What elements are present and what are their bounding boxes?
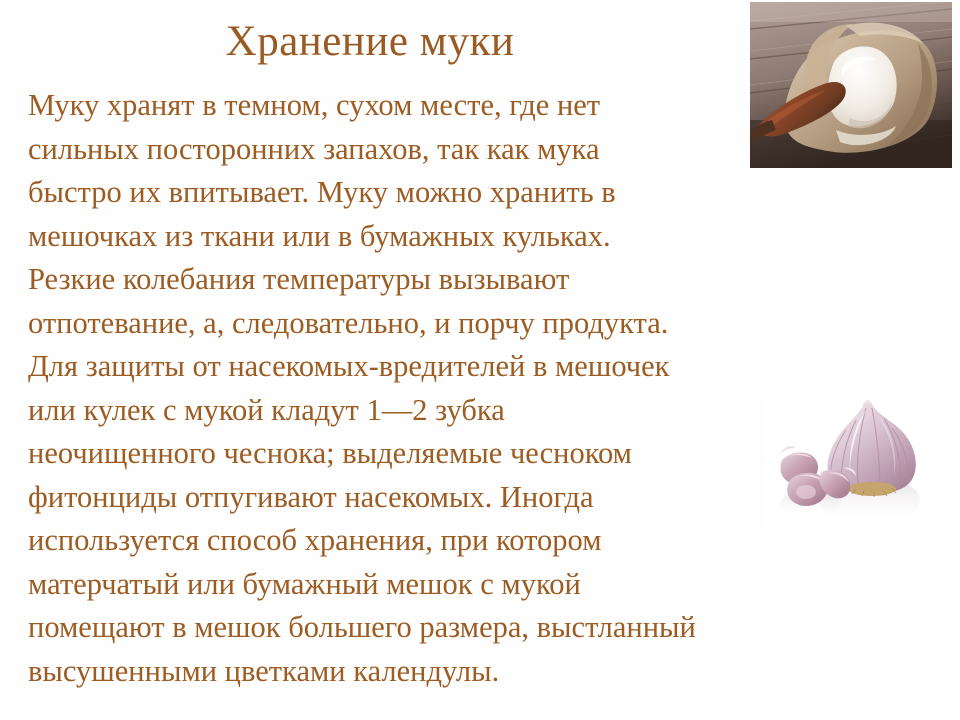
page-title: Хранение муки — [0, 16, 740, 68]
body-text-block: Муку хранят в темном, сухом месте, где н… — [28, 84, 858, 693]
text-line: Муку хранят в темном, сухом месте, где н… — [28, 84, 858, 128]
bulb-root-base — [848, 482, 896, 496]
text-line: используется способ хранения, при которо… — [28, 519, 858, 563]
slide-root: Хранение муки Муку хранят в темном, сухо… — [0, 0, 960, 720]
text-line: сильных посторонних запахов, так как мук… — [28, 128, 858, 172]
text-line: помещают в мешок большего размера, выстл… — [28, 606, 858, 650]
text-line: Для защиты от насекомых-вредителей в меш… — [28, 345, 858, 389]
text-line: высушенными цветками календулы. — [28, 650, 858, 694]
text-line: мешочках из ткани или в бумажных кульках… — [28, 215, 858, 259]
text-line: или кулек с мукой кладут 1—2 зубка — [28, 389, 858, 433]
text-line: неочищенного чеснока; выделяемые чесноко… — [28, 432, 858, 476]
garlic-bulb-photo — [766, 396, 952, 532]
garlic-illustration — [766, 396, 952, 532]
text-line: быстро их впитывает. Муку можно хранить … — [28, 171, 858, 215]
text-line: отпотевание, а, следовательно, и порчу п… — [28, 302, 858, 346]
text-line: матерчатый или бумажный мешок с мукой — [28, 563, 858, 607]
text-line: фитонциды отпугивают насекомых. Иногда — [28, 476, 858, 520]
text-line: Резкие колебания температуры вызывают — [28, 258, 858, 302]
